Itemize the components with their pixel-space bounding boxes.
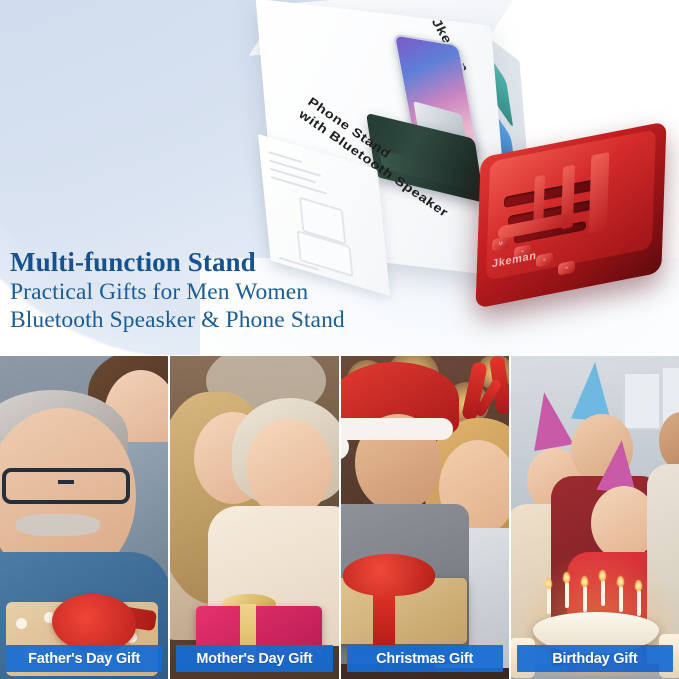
panel-caption-bar: Birthday Gift — [517, 645, 673, 672]
subtitle-line-1: Practical Gifts for Men Women — [10, 278, 345, 306]
fathers-day-photo — [0, 356, 168, 679]
page-title: Multi-function Stand — [10, 246, 345, 278]
panel-caption-text: Christmas Gift — [376, 651, 473, 667]
panel-caption-text: Birthday Gift — [552, 651, 637, 667]
device-kickstand-fin — [589, 152, 610, 234]
gallery-panel-mothers-day[interactable]: Mother's Day Gift — [170, 356, 338, 679]
birthday-photo — [511, 356, 679, 679]
panel-caption-bar: Father's Day Gift — [6, 645, 162, 672]
gallery-panel-christmas[interactable]: Christmas Gift — [341, 356, 509, 679]
panel-caption-bar: Christmas Gift — [347, 645, 503, 672]
panel-caption-text: Mother's Day Gift — [196, 651, 312, 667]
mothers-day-photo — [170, 356, 338, 679]
gallery-panel-fathers-day[interactable]: Father's Day Gift — [0, 356, 168, 679]
gallery-panel-birthday[interactable]: Birthday Gift — [511, 356, 679, 679]
panel-caption-text: Father's Day Gift — [28, 651, 140, 667]
hero-section: Jkeman Phone Stand with Bluetooth Speake… — [0, 0, 679, 355]
headline-block: Multi-function Stand Practical Gifts for… — [10, 246, 345, 334]
gift-occasion-gallery: Father's Day Gift Mother's Day Gift — [0, 356, 679, 679]
panel-caption-bar: Mother's Day Gift — [176, 645, 332, 672]
subtitle-line-2: Bluetooth Speasker & Phone Stand — [10, 306, 345, 334]
bluetooth-speaker-stand: M + « » Jkeman — [474, 136, 672, 314]
product-marketing-image: Jkeman Phone Stand with Bluetooth Speake… — [0, 0, 679, 679]
christmas-photo — [341, 356, 509, 679]
